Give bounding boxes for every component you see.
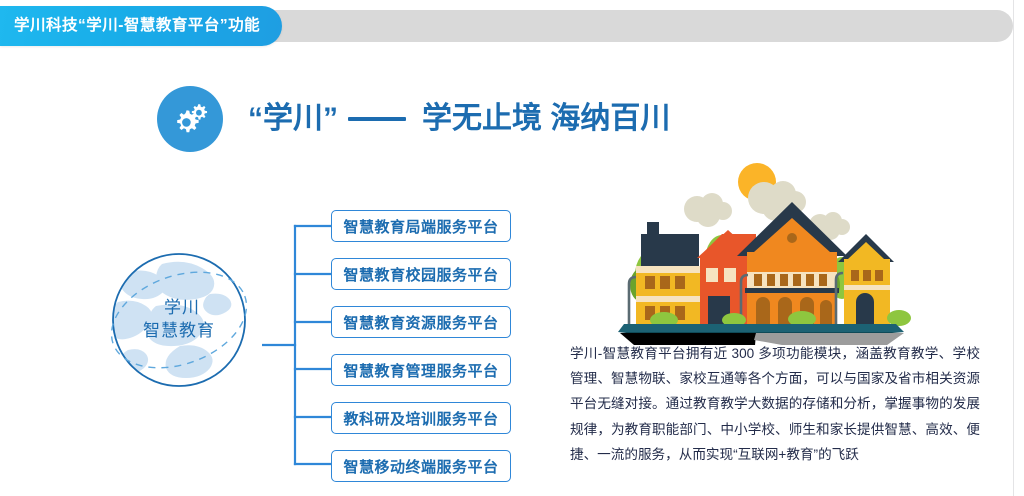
node-box[interactable]: 智慧教育校园服务平台 (331, 258, 511, 290)
node-label: 智慧教育管理服务平台 (343, 360, 498, 381)
globe-graphic: 学川 智慧教育 (84, 250, 274, 390)
node-box[interactable]: 智慧教育局端服务平台 (331, 210, 511, 242)
node-box[interactable]: 智慧移动终端服务平台 (331, 450, 511, 482)
slide-page: 学川科技“学川-智慧教育平台”功能 “学川” 学无止境 海纳百川 (0, 0, 1024, 496)
node-label: 智慧移动终端服务平台 (343, 456, 498, 477)
node-list: 智慧教育局端服务平台 智慧教育校园服务平台 智慧教育资源服务平台 智慧教育管理服… (331, 210, 513, 482)
village-school-illustration (604, 160, 914, 345)
node-label: 智慧教育资源服务平台 (343, 312, 498, 333)
house-right (838, 234, 894, 324)
header-tag[interactable]: 学川科技“学川-智慧教育平台”功能 (0, 6, 282, 46)
title-brand: “学川” (248, 104, 338, 134)
title-slogan: 学无止境 海纳百川 (422, 104, 670, 134)
node-box[interactable]: 教科研及培训服务平台 (331, 402, 511, 434)
node-label: 智慧教育校园服务平台 (343, 264, 498, 285)
page-title: “学川” 学无止境 海纳百川 (248, 104, 670, 134)
node-label: 教科研及培训服务平台 (343, 408, 498, 429)
node-label: 智慧教育局端服务平台 (343, 216, 498, 237)
description-text: 学川-智慧教育平台拥有近 300 多项功能模块，涵盖教育教学、学校管理、智慧物联… (570, 341, 980, 467)
title-dash (348, 117, 406, 121)
ground-platform (618, 324, 904, 332)
page-edge-line (1013, 0, 1014, 496)
tree-connector (262, 200, 342, 490)
header-tag-label: 学川科技“学川-智慧教育平台”功能 (14, 18, 260, 34)
gears-icon (157, 86, 223, 152)
node-box[interactable]: 智慧教育管理服务平台 (331, 354, 511, 386)
node-box[interactable]: 智慧教育资源服务平台 (331, 306, 511, 338)
house-left (636, 222, 704, 324)
title-row: “学川” 学无止境 海纳百川 (157, 86, 670, 152)
